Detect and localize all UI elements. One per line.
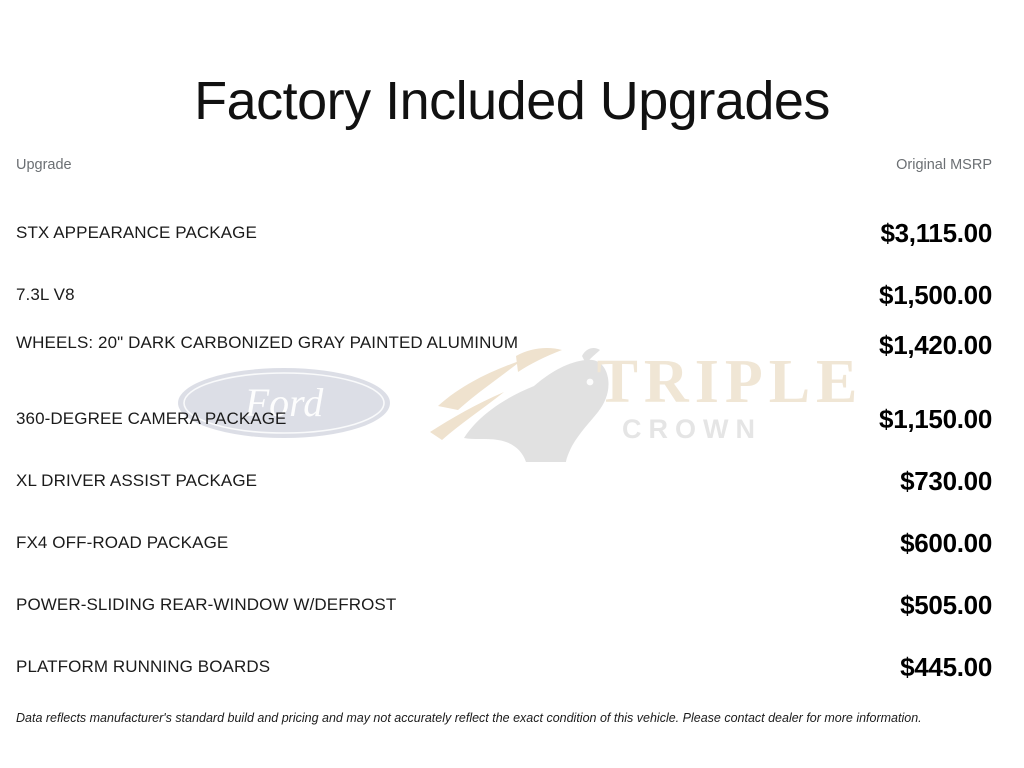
upgrade-price: $1,150.00: [879, 406, 992, 432]
upgrade-price: $3,115.00: [880, 220, 992, 246]
table-row: FX4 OFF-ROAD PACKAGE $600.00: [16, 512, 992, 574]
upgrade-name: 7.3L V8: [16, 284, 75, 307]
table-header-row: Upgrade Original MSRP: [16, 158, 992, 184]
upgrade-price: $600.00: [900, 530, 992, 556]
column-header-original-msrp: Original MSRP: [896, 158, 992, 173]
upgrade-name: XL DRIVER ASSIST PACKAGE: [16, 470, 257, 493]
upgrades-page: Ford TRIPLE CROWN Factory Included Upgra…: [0, 0, 1024, 768]
upgrade-name: PLATFORM RUNNING BOARDS: [16, 656, 270, 679]
upgrade-name: 360-DEGREE CAMERA PACKAGE: [16, 408, 287, 431]
table-row: XL DRIVER ASSIST PACKAGE $730.00: [16, 450, 992, 512]
table-row: WHEELS: 20" DARK CARBONIZED GRAY PAINTED…: [16, 326, 992, 388]
upgrade-name: POWER-SLIDING REAR-WINDOW W/DEFROST: [16, 594, 396, 617]
upgrade-name: STX APPEARANCE PACKAGE: [16, 222, 257, 245]
upgrade-price: $445.00: [900, 654, 992, 680]
table-row: 360-DEGREE CAMERA PACKAGE $1,150.00: [16, 388, 992, 450]
upgrade-price: $730.00: [900, 468, 992, 494]
table-body: STX APPEARANCE PACKAGE $3,115.00 7.3L V8…: [16, 202, 992, 698]
column-header-upgrade: Upgrade: [16, 158, 72, 173]
table-row: STX APPEARANCE PACKAGE $3,115.00: [16, 202, 992, 264]
upgrade-price: $1,500.00: [879, 282, 992, 308]
disclaimer-text: Data reflects manufacturer's standard bu…: [16, 710, 992, 726]
upgrade-name: WHEELS: 20" DARK CARBONIZED GRAY PAINTED…: [16, 332, 518, 355]
page-title: Factory Included Upgrades: [0, 72, 1024, 131]
table-row: POWER-SLIDING REAR-WINDOW W/DEFROST $505…: [16, 574, 992, 636]
upgrade-name: FX4 OFF-ROAD PACKAGE: [16, 532, 228, 555]
upgrades-table: Upgrade Original MSRP STX APPEARANCE PAC…: [16, 158, 992, 698]
upgrade-price: $1,420.00: [879, 332, 992, 358]
upgrade-price: $505.00: [900, 592, 992, 618]
table-row: PLATFORM RUNNING BOARDS $445.00: [16, 636, 992, 698]
table-row: 7.3L V8 $1,500.00: [16, 264, 992, 326]
